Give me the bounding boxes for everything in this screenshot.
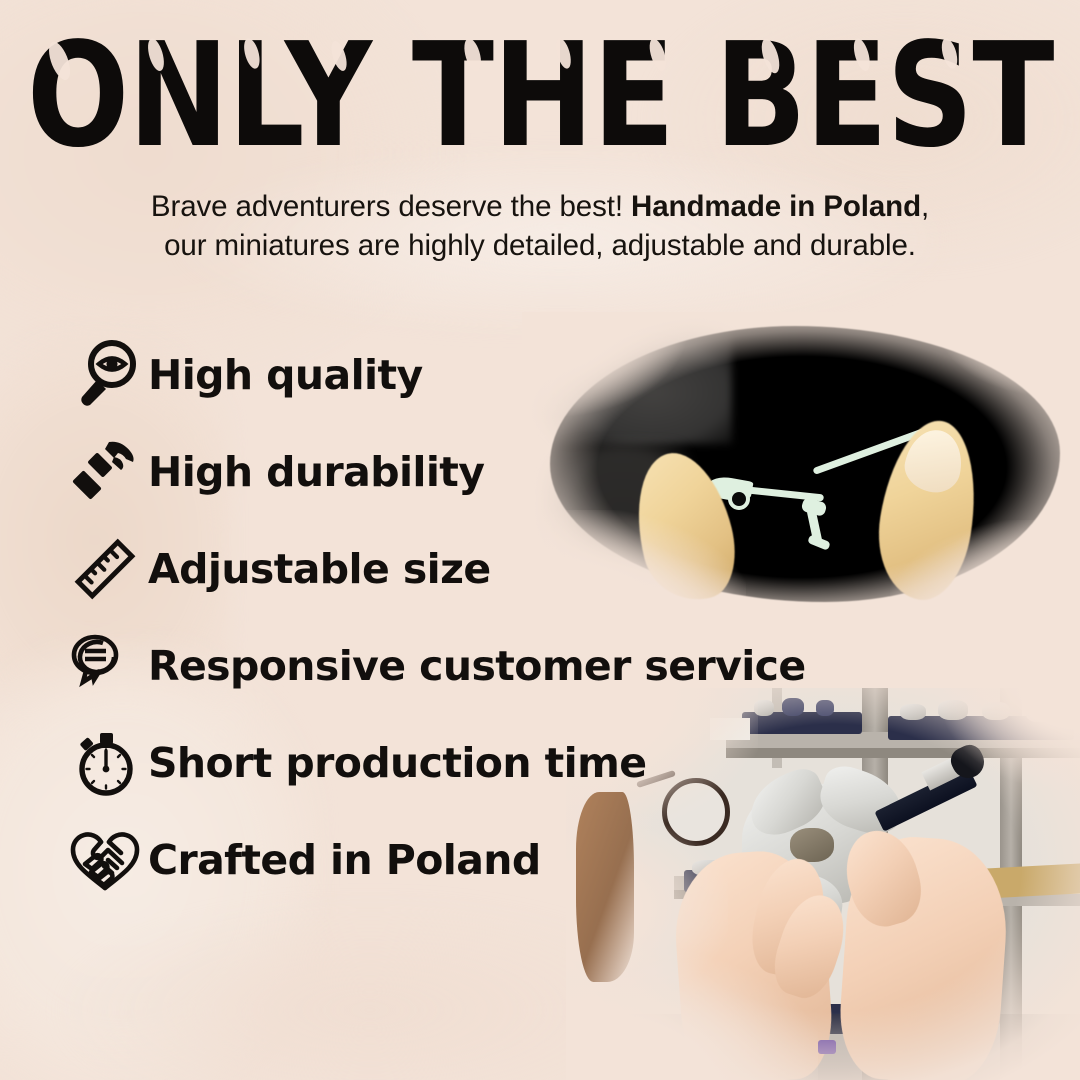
subtitle-line1-tail: , <box>921 190 929 223</box>
subtitle-highlight: Handmade in Poland <box>631 190 921 223</box>
speech-bubbles-icon <box>62 623 148 709</box>
stopwatch-icon <box>62 720 148 806</box>
ruler-icon <box>62 526 148 612</box>
magnifier-eye-icon <box>62 332 148 418</box>
feature-item-adjustable-size: Adjustable size <box>62 520 822 617</box>
page-title: ONLY THE BEST <box>0 36 1080 154</box>
feature-item-production-time: Short production time <box>62 714 822 811</box>
feature-label: Crafted in Poland <box>148 836 541 884</box>
feature-label: Adjustable size <box>148 545 491 593</box>
feature-label: Short production time <box>148 739 646 787</box>
feature-list: High quality High durability <box>62 326 822 908</box>
feature-item-high-durability: High durability <box>62 423 822 520</box>
promo-graphic: ONLY THE BEST Brave adventurers deserve … <box>0 0 1080 1080</box>
feature-item-high-quality: High quality <box>62 326 822 423</box>
feature-label: High quality <box>148 351 423 399</box>
headline-text: ONLY THE BEST <box>27 11 1054 179</box>
subtitle-line2: our miniatures are highly detailed, adju… <box>164 229 916 262</box>
feature-item-customer-service: Responsive customer service <box>62 617 822 714</box>
feature-label: Responsive customer service <box>148 642 806 690</box>
subtitle: Brave adventurers deserve the best! Hand… <box>90 188 990 266</box>
handshake-heart-icon <box>62 817 148 903</box>
subtitle-line1-plain: Brave adventurers deserve the best! <box>151 190 631 223</box>
feature-item-crafted-in-poland: Crafted in Poland <box>62 811 822 908</box>
hammer-icon <box>62 429 148 515</box>
feature-label: High durability <box>148 448 484 496</box>
